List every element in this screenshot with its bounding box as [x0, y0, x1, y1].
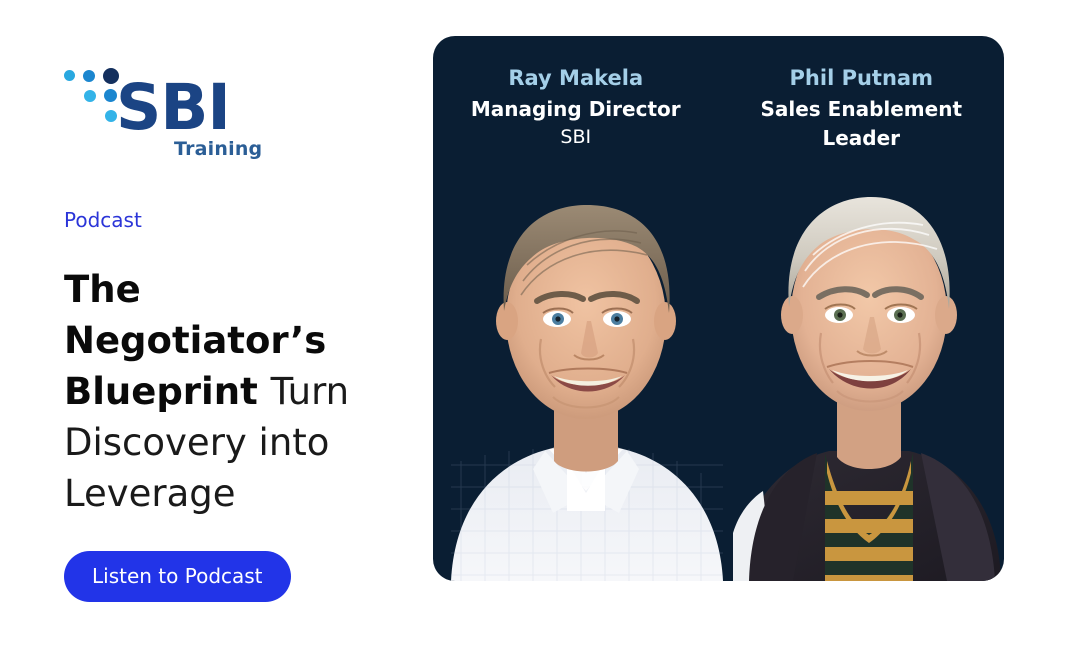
speaker-headers: Ray Makela Managing Director SBI Phil Pu…	[433, 36, 1004, 206]
speaker-name-0: Ray Makela	[447, 64, 705, 92]
content-type-label: Podcast	[64, 208, 414, 232]
speaker-org-0: SBI	[447, 124, 705, 151]
speaker-role-0: Managing Director	[447, 95, 705, 123]
sbi-training-logo: SBI Training	[64, 58, 294, 168]
logo-subtext: Training	[174, 138, 262, 160]
speakers-card: Ray Makela Managing Director SBI Phil Pu…	[433, 36, 1004, 581]
logo-wordmark: SBI	[116, 76, 230, 139]
page-title: The Negotiator’s Blueprint Turn Discover…	[64, 264, 409, 519]
speaker-name-1: Phil Putnam	[733, 64, 991, 92]
logo-dot-2	[83, 70, 95, 82]
speaker-header-0: Ray Makela Managing Director SBI	[433, 64, 719, 206]
portrait-phil-putnam	[733, 161, 1004, 581]
listen-to-podcast-button[interactable]: Listen to Podcast	[64, 551, 291, 602]
speaker-portraits	[433, 161, 1004, 581]
speaker-role-1: Sales Enablement Leader	[733, 95, 991, 152]
logo-dot-1	[64, 70, 75, 81]
logo-dot-4	[84, 90, 96, 102]
logo-dots-icon	[64, 70, 120, 128]
podcast-promo-card: SBI Training Podcast The Negotiator’s Bl…	[0, 0, 1080, 652]
speaker-header-1: Phil Putnam Sales Enablement Leader	[719, 64, 1005, 206]
portrait-ray-makela	[441, 161, 731, 581]
promo-left-column: SBI Training Podcast The Negotiator’s Bl…	[64, 58, 414, 602]
